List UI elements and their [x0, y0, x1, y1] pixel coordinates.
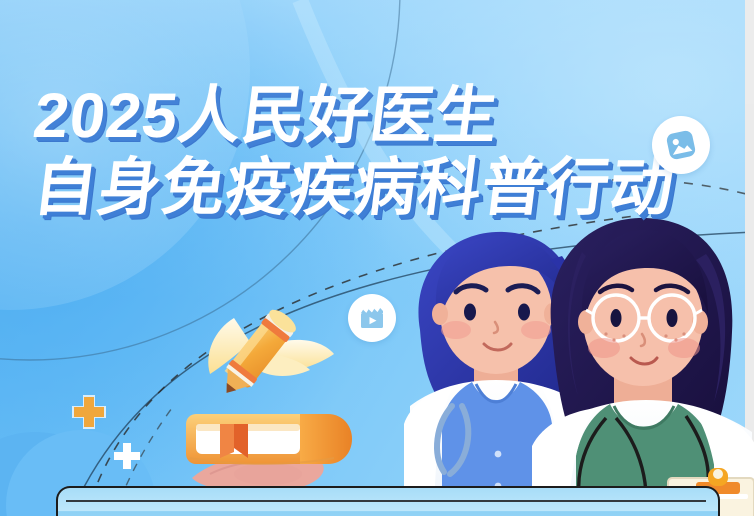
- two-doctors-icon: [400, 210, 754, 516]
- plus-icon: [110, 440, 144, 474]
- title-line-1: 2025人民好医生: [30, 84, 678, 148]
- book-icon: [182, 404, 360, 476]
- plus-icon-white: [110, 440, 144, 479]
- video-clapperboard-icon: [357, 303, 387, 333]
- poster-banner: 2025人民好医生 自身免疫疾病科普行动: [0, 0, 754, 516]
- plus-icon-orange: [66, 392, 112, 443]
- desk-panel-edge-line: [66, 500, 706, 502]
- plus-icon: [66, 392, 112, 438]
- winged-pencil-icon: [176, 300, 356, 420]
- book-illustration: [182, 404, 360, 476]
- doctor-right: [532, 218, 754, 516]
- image-icon: [661, 125, 701, 165]
- title-line-2: 自身免疫疾病科普行动: [30, 156, 678, 220]
- poster-title: 2025人民好医生 自身免疫疾病科普行动: [34, 84, 674, 221]
- winged-pencil-illustration: [176, 300, 356, 420]
- video-icon-badge[interactable]: [348, 294, 396, 342]
- doctors-illustration: [400, 210, 754, 516]
